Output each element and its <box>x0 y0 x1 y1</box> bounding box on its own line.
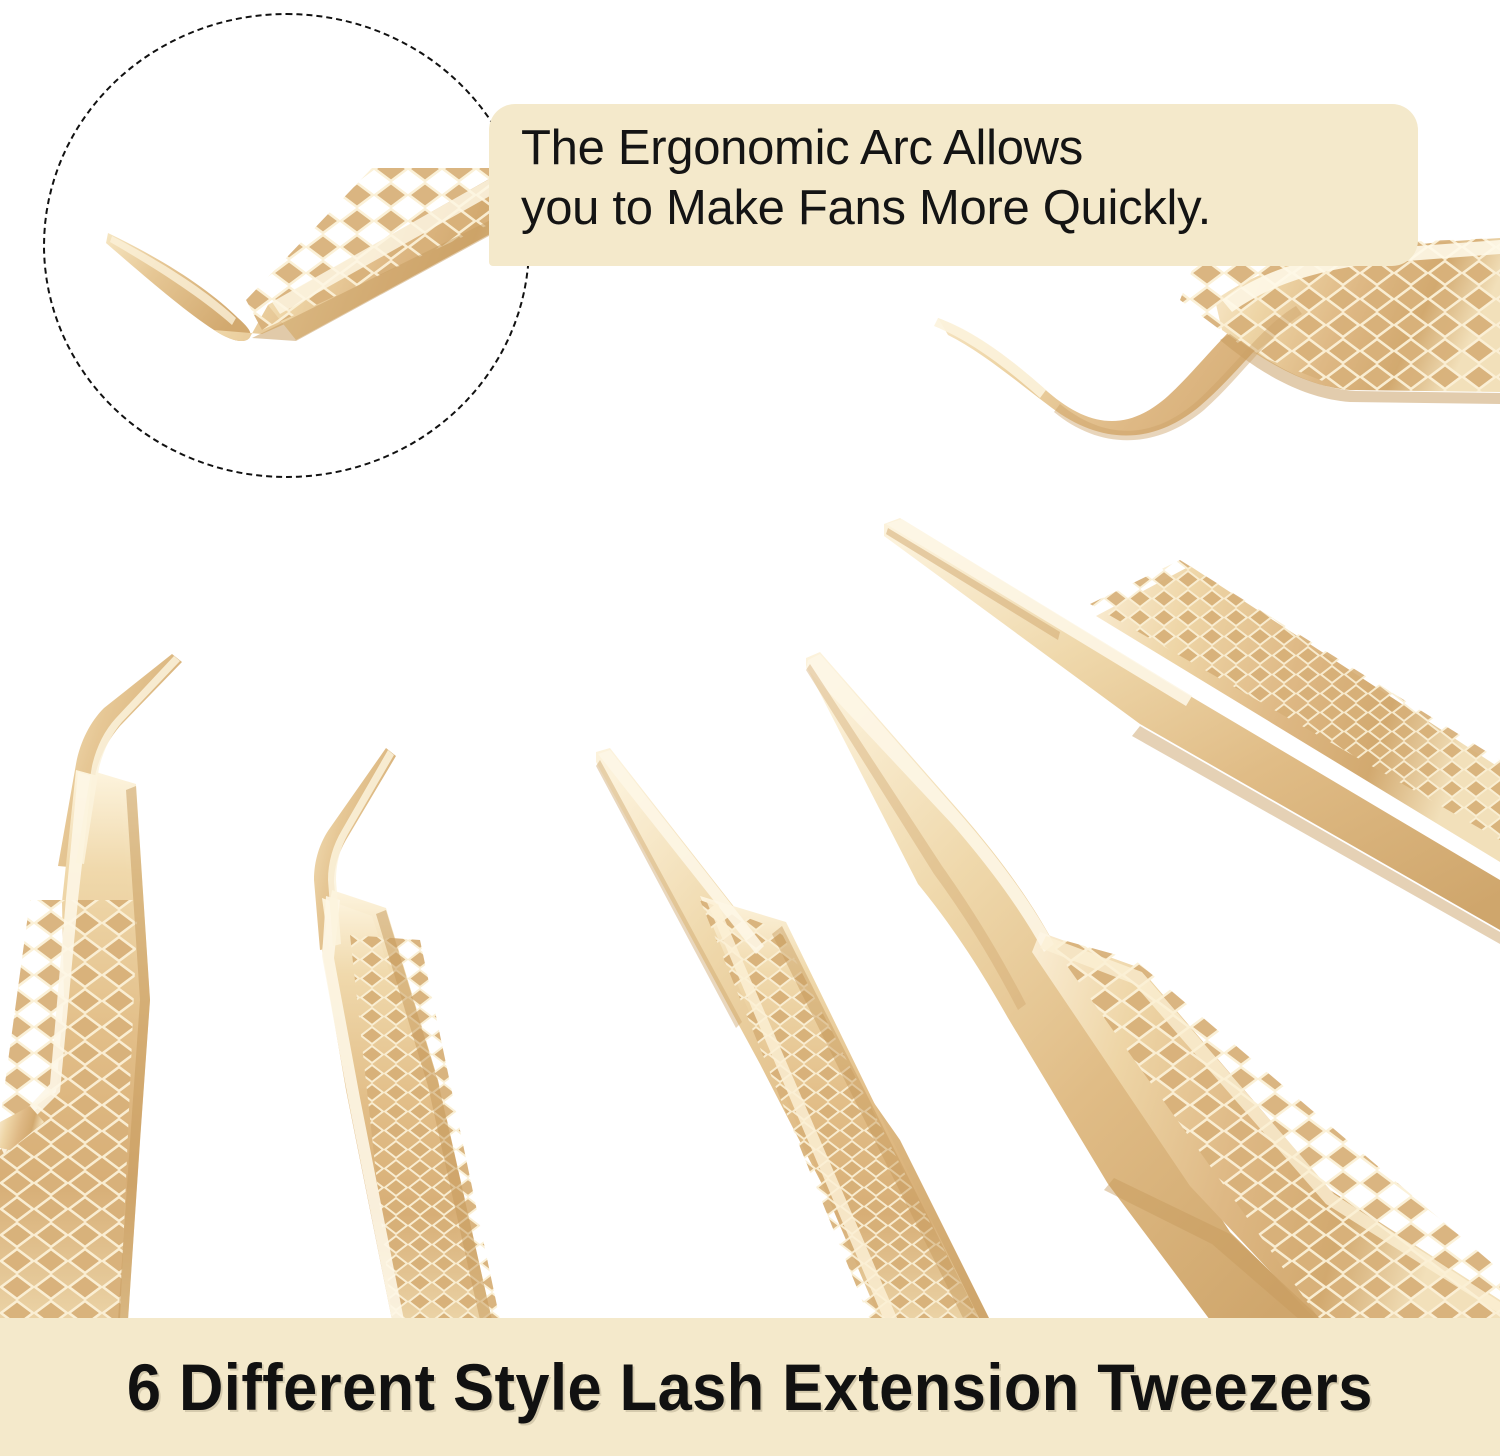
magnifier-circle <box>43 13 530 478</box>
tweezer-mid-boot <box>300 748 530 1340</box>
ergonomic-arc-callout: The Ergonomic Arc Allows you to Make Fan… <box>489 104 1418 266</box>
callout-text: The Ergonomic Arc Allows you to Make Fan… <box>521 118 1390 238</box>
banner-title: 6 Different Style Lash Extension Tweezer… <box>127 1349 1373 1425</box>
product-image-canvas: The Ergonomic Arc Allows you to Make Fan… <box>0 0 1500 1456</box>
tweezer-left-boot <box>0 654 190 1340</box>
bottom-banner: 6 Different Style Lash Extension Tweezer… <box>0 1318 1500 1456</box>
